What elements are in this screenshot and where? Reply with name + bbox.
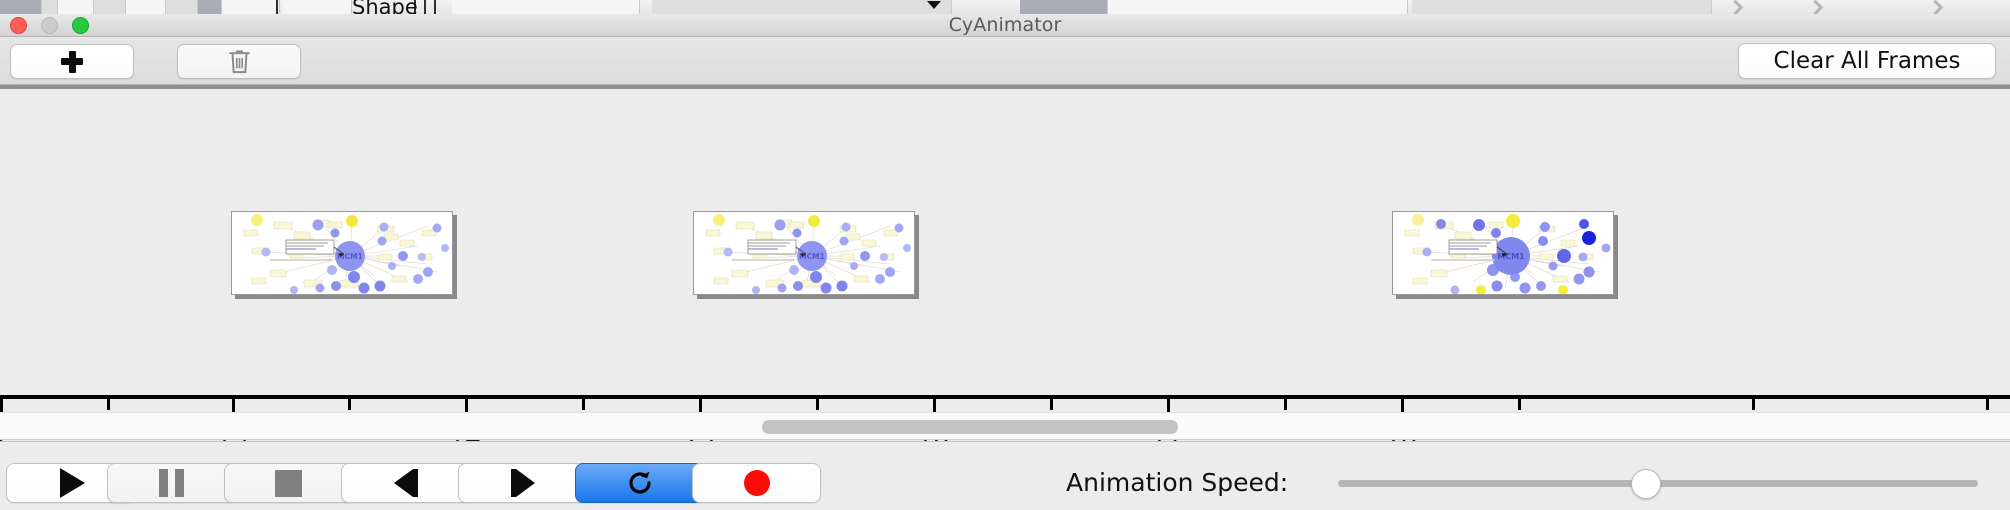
animation-speed-label: Animation Speed: bbox=[1066, 463, 1288, 503]
add-frame-button[interactable] bbox=[10, 44, 134, 79]
axis-tick-minor bbox=[582, 399, 585, 410]
network-graph-svg: MCM1 bbox=[1393, 212, 1614, 295]
axis-tick-minor bbox=[348, 399, 351, 410]
animation-speed-slider-thumb[interactable] bbox=[1631, 469, 1661, 499]
pause-button[interactable] bbox=[107, 463, 236, 503]
network-thumbnail: MCM1 bbox=[1393, 212, 1613, 294]
skip-to-end-button[interactable] bbox=[458, 463, 587, 503]
delete-frame-button[interactable] bbox=[177, 44, 301, 79]
axis-tick-minor bbox=[1986, 399, 1989, 410]
skip-previous-icon bbox=[394, 469, 418, 497]
timeline-frame-thumbnail[interactable]: MCM1 bbox=[1392, 211, 1614, 295]
trash-icon bbox=[227, 48, 252, 75]
page-title: CyAnimator bbox=[0, 14, 2010, 37]
plus-icon bbox=[61, 51, 83, 73]
background-window-label: Shape bbox=[352, 0, 418, 14]
axis-tick-minor bbox=[1050, 399, 1053, 410]
record-button[interactable] bbox=[692, 463, 821, 503]
clear-all-frames-label: Clear All Frames bbox=[1774, 48, 1961, 74]
svg-text:MCM1: MCM1 bbox=[1497, 252, 1525, 261]
loop-icon bbox=[625, 468, 655, 498]
clear-all-frames-button[interactable]: Clear All Frames bbox=[1738, 43, 1996, 79]
toolbar bbox=[0, 37, 2010, 85]
background-window-strip: Shape bbox=[0, 0, 2010, 14]
timeline-panel[interactable]: MCM1 bbox=[0, 89, 2010, 412]
timeline-frame-thumbnail[interactable]: MCM1 bbox=[231, 211, 453, 295]
timeline-frame-thumbnail[interactable]: MCM1 bbox=[693, 211, 915, 295]
network-thumbnail: MCM1 bbox=[232, 212, 452, 294]
network-thumbnail: MCM1 bbox=[694, 212, 914, 294]
network-graph-svg: MCM1 bbox=[232, 212, 453, 295]
timeline-axis bbox=[0, 395, 2010, 399]
axis-tick-minor bbox=[1284, 399, 1287, 410]
stop-button[interactable] bbox=[224, 463, 353, 503]
play-icon bbox=[60, 468, 85, 498]
record-icon bbox=[744, 470, 770, 496]
axis-tick-minor bbox=[1518, 399, 1521, 410]
axis-tick-minor bbox=[107, 399, 110, 410]
stop-icon bbox=[275, 470, 302, 497]
svg-text:MCM1: MCM1 bbox=[799, 252, 825, 261]
horizontal-scrollbar-thumb[interactable] bbox=[762, 420, 1178, 434]
pause-icon bbox=[159, 469, 184, 497]
axis-tick-minor bbox=[816, 399, 819, 410]
network-graph-svg: MCM1 bbox=[694, 212, 915, 295]
loop-button[interactable] bbox=[575, 463, 704, 503]
skip-next-icon bbox=[511, 469, 535, 497]
axis-tick-minor bbox=[1752, 399, 1755, 410]
cyanimator-window: Shape CyAnimator Clear All Frames bbox=[0, 0, 2010, 510]
svg-text:MCM1: MCM1 bbox=[337, 252, 363, 261]
skip-to-start-button[interactable] bbox=[341, 463, 470, 503]
